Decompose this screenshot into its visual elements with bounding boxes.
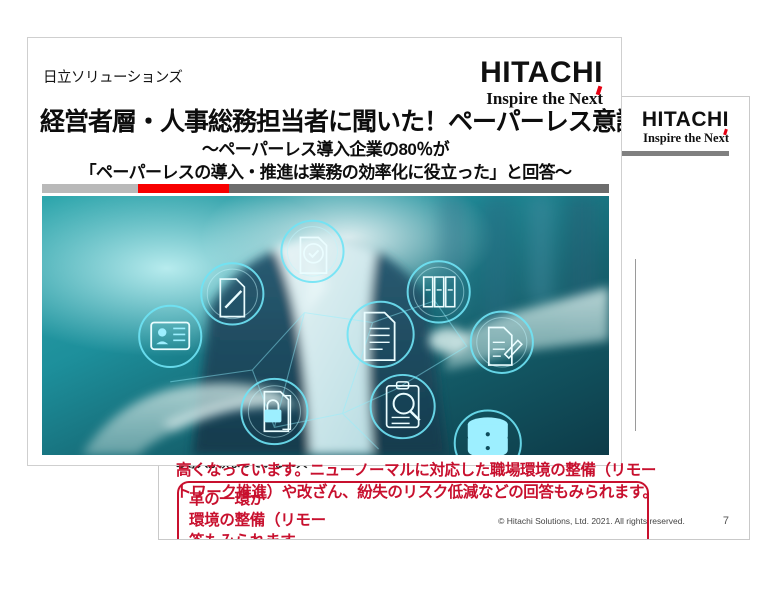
hitachi-logo-back: HITACHI Inspire the Next (642, 109, 729, 146)
callout-line-1: 革の一環が (189, 490, 637, 511)
front-slide[interactable]: 日立ソリューションズ HITACHI Inspire the Next 経営者層… (27, 37, 622, 466)
red-callout-box: 革の一環が 環境の整備（リモー 答もみられます。 (177, 481, 649, 540)
hitachi-tagline-text-front: Inspire the Next (486, 89, 603, 108)
page-subtitle-1: ～ペーパーレス導入企業の80％が (40, 139, 611, 161)
hitachi-wordmark-back: HITACHI (642, 109, 729, 130)
accent-bar-segment-red (138, 184, 229, 193)
copyright-text: © Hitachi Solutions, Ltd. 2021. All righ… (498, 516, 685, 526)
hero-photo (42, 196, 609, 455)
hitachi-logo-front: HITACHI Inspire the Next (480, 58, 603, 108)
hitachi-wordmark-front: HITACHI (480, 58, 603, 88)
hero-illustration (42, 196, 609, 455)
accent-bar (42, 184, 609, 193)
chart-axis-right (635, 259, 636, 431)
page-number: 7 (723, 515, 729, 527)
accent-bar-segment-dark-gray (229, 184, 609, 193)
background-slide-footer: © Hitachi Solutions, Ltd. 2021. All righ… (175, 515, 729, 527)
company-name: 日立ソリューションズ (43, 66, 182, 87)
accent-bar-segment-light-gray (42, 184, 138, 193)
title-block: 経営者層・人事総務担当者に聞いた！ペーパーレス意識調査 ～ペーパーレス導入企業の… (40, 108, 611, 184)
hitachi-tagline-text-back: Inspire the Next (643, 131, 729, 145)
front-slide-header: 日立ソリューションズ HITACHI Inspire the Next (43, 60, 609, 100)
hitachi-tagline-front: Inspire the Next (486, 90, 603, 107)
callout-line-3: 答もみられます。 (189, 532, 637, 540)
page-title: 経営者層・人事総務担当者に聞いた！ペーパーレス意識調査 (40, 108, 611, 136)
hitachi-tagline-back: Inspire the Next (643, 132, 729, 145)
page-subtitle-2: 「ペーパーレスの導入・推進は業務の効率化に役立った」と回答～ (40, 162, 611, 184)
